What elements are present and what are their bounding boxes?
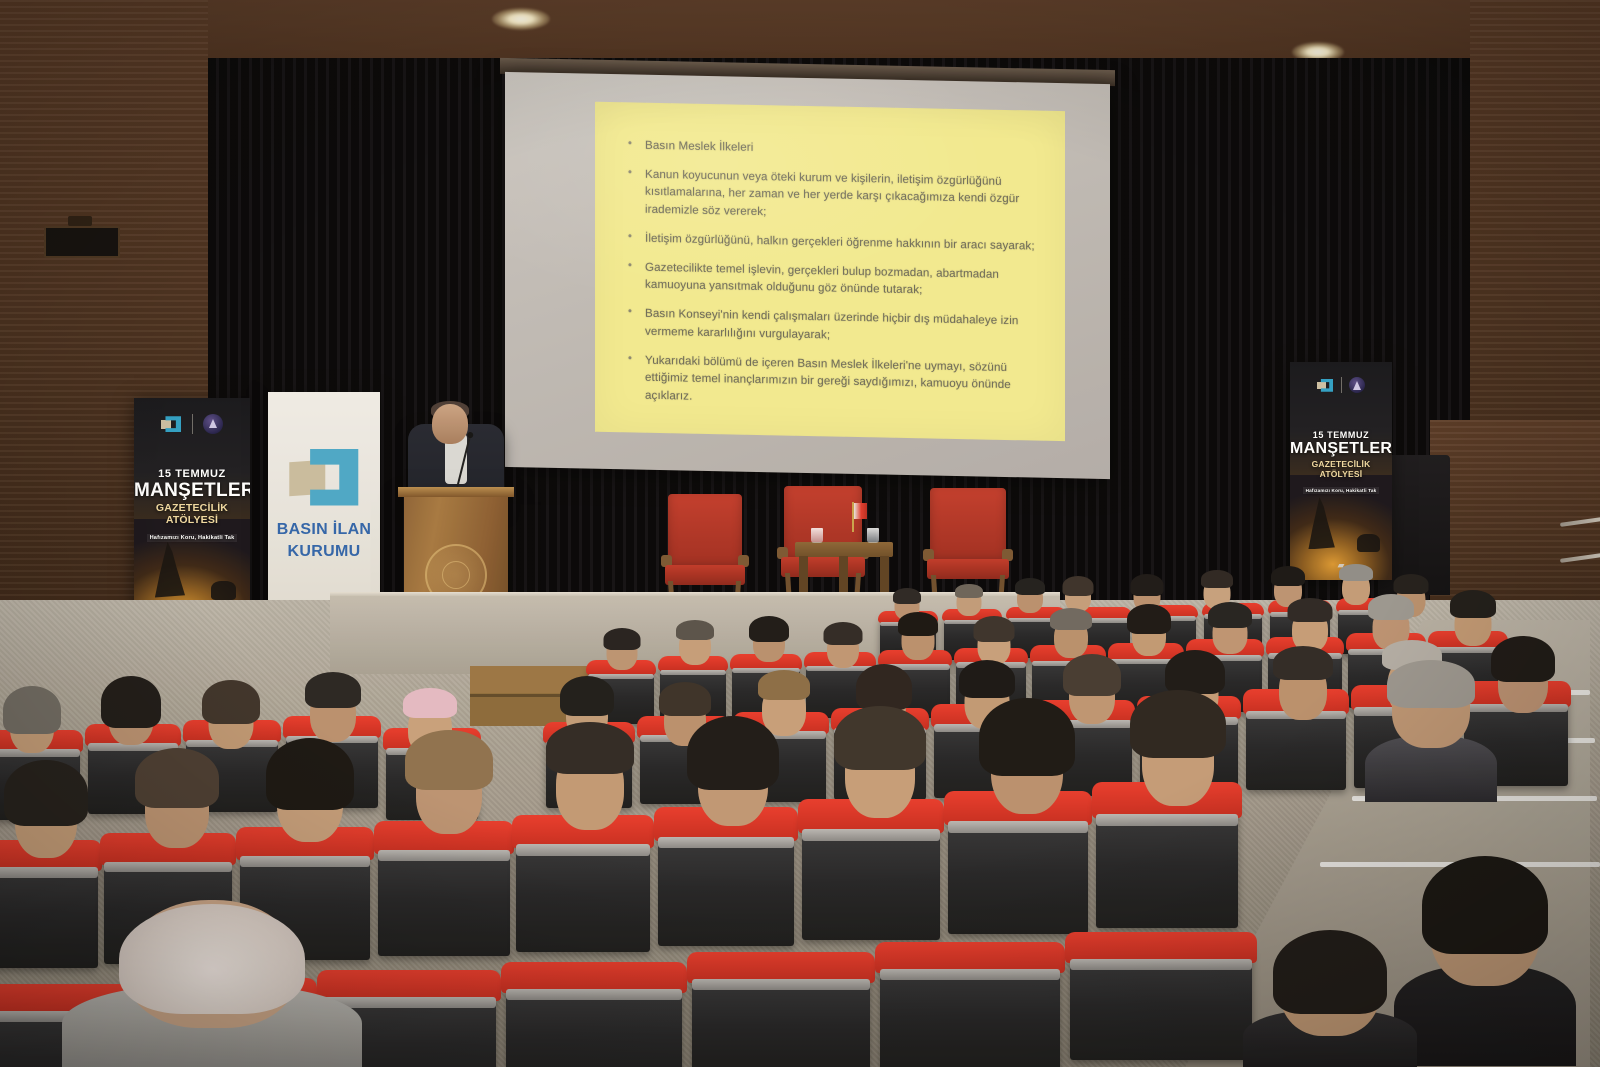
- slide-bullet: Basın Meslek İlkeleri: [625, 136, 1035, 162]
- presenter-head: [432, 404, 468, 444]
- divider: [192, 414, 193, 434]
- banner-line-1: 15 TEMMUZ: [1290, 430, 1392, 440]
- audience-member: [1268, 646, 1338, 730]
- projection-screen: Basın Meslek İlkeleri Kanun koyucunun ve…: [505, 72, 1110, 479]
- audience-member: [672, 620, 718, 670]
- audience-member-foreground: [62, 900, 362, 1067]
- crest-emblem-icon: [1349, 377, 1365, 393]
- audience-member: [0, 760, 92, 868]
- audience-member-foreground: [1250, 930, 1410, 1067]
- audience-seat: [692, 960, 870, 1067]
- banner-line-4: Hafızamızı Koru, Hakikatli Tak: [147, 534, 238, 542]
- slide-bullet: İletişim özgürlüğünü, halkın gerçekleri …: [625, 229, 1035, 255]
- wall-speaker-bracket: [68, 216, 92, 226]
- bik-logo-icon: [1317, 379, 1333, 392]
- water-glass: [867, 528, 879, 543]
- slide-bullet: Gazetecilikte temel işlevin, gerçekleri …: [625, 258, 1035, 302]
- banner-line-2: MANŞETLERİ: [134, 481, 250, 500]
- slide-bullet-list: Basın Meslek İlkeleri Kanun koyucunun ve…: [625, 136, 1035, 412]
- banner-line-3: GAZETECİLİK ATÖLYESİ: [134, 502, 250, 526]
- wall-speaker-icon: [44, 226, 120, 258]
- audience-member: [746, 616, 792, 668]
- bik-logo-icon: [161, 416, 181, 432]
- crest-emblem-icon: [203, 414, 223, 434]
- audience-member: [1012, 578, 1048, 616]
- audience-seat: [378, 830, 510, 956]
- audience-member: [98, 676, 164, 754]
- banner-line-1: 15 TEMMUZ: [134, 468, 250, 480]
- water-glass: [811, 528, 823, 543]
- audience-member-foreground: [1372, 660, 1490, 800]
- audience-member: [540, 722, 640, 842]
- audience-member: [0, 686, 64, 762]
- audience-member: [682, 716, 784, 838]
- audience-member: [974, 698, 1080, 824]
- audience-seat: [506, 970, 682, 1067]
- audience-member: [400, 730, 498, 848]
- audience-member: [262, 738, 358, 854]
- audience-seat: [880, 950, 1060, 1067]
- presentation-slide: Basın Meslek İlkeleri Kanun koyucunun ve…: [595, 102, 1065, 441]
- bik-logo-icon: [289, 449, 358, 506]
- audience-member: [130, 748, 224, 860]
- auditorium-photo: Basın Meslek İlkeleri Kanun koyucunun ve…: [0, 0, 1600, 1067]
- slide-bullet: Basın Konseyi'nin kendi çalışmaları üzer…: [625, 304, 1035, 348]
- banner-line-2: KURUMU: [268, 543, 380, 561]
- audience-member: [600, 628, 644, 674]
- audience-member: [952, 584, 986, 618]
- slide-bullet: Yukarıdaki bölümü de içeren Basın Meslek…: [625, 351, 1035, 412]
- audience-seat: [516, 824, 650, 952]
- audience-member: [1124, 690, 1232, 818]
- audience-seat: [1070, 940, 1252, 1060]
- divider: [1341, 377, 1342, 393]
- banner-line-2: MANŞETLERİ: [1290, 441, 1392, 457]
- banner-line-3: GAZETECİLİK ATÖLYESİ: [1290, 459, 1392, 479]
- audience-member-foreground: [1400, 856, 1570, 1066]
- ceiling-light-icon: [492, 8, 550, 30]
- audience-member: [1486, 636, 1560, 724]
- audience-member: [828, 706, 932, 830]
- audience-member: [894, 612, 942, 666]
- banner-line-4: Hafızamızı Koru, Hakikatli Tak: [1303, 487, 1380, 494]
- slide-bullet: Kanun koyucunun veya öteki kurum ve kişi…: [625, 165, 1035, 226]
- rollup-banner-15-temmuz-left: 15 TEMMUZ MANŞETLERİ GAZETECİLİK ATÖLYES…: [134, 398, 250, 630]
- rollup-banner-15-temmuz-right: 15 TEMMUZ MANŞETLERİ GAZETECİLİK ATÖLYES…: [1290, 362, 1392, 580]
- turkish-flag-icon: [845, 502, 861, 532]
- banner-line-1: BASIN İLAN: [268, 521, 380, 539]
- audience-member: [198, 680, 264, 758]
